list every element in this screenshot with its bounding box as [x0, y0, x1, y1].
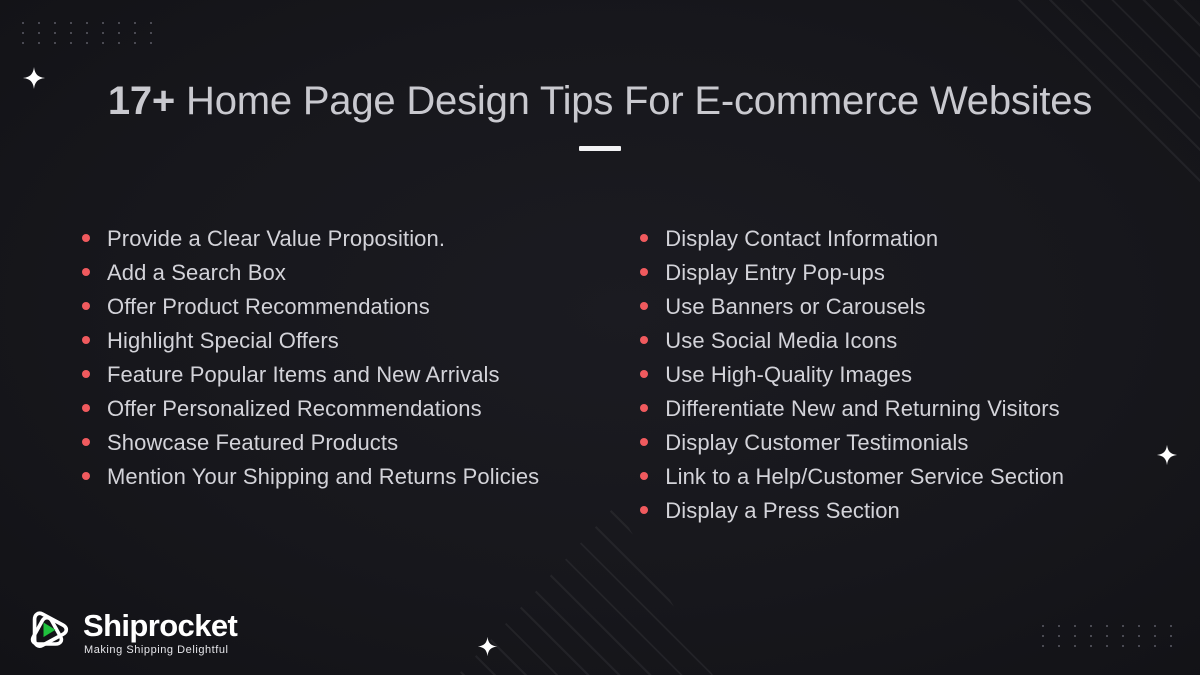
list-item: Use Banners or Carousels — [640, 296, 1160, 318]
slide-canvas: 17+ Home Page Design Tips For E-commerce… — [0, 0, 1200, 675]
list-item: Feature Popular Items and New Arrivals — [82, 364, 640, 386]
bullet-icon — [640, 336, 648, 344]
bullet-icon — [640, 268, 648, 276]
bullet-icon — [82, 268, 90, 276]
shiprocket-play-triangle-icon — [22, 604, 74, 661]
logo-wordmark: Shiprocket — [83, 610, 237, 641]
bullet-icon — [640, 302, 648, 310]
list-item: Display a Press Section — [640, 500, 1160, 522]
bullet-icon — [640, 404, 648, 412]
list-item: Add a Search Box — [82, 262, 640, 284]
tips-right-column: Display Contact Information Display Entr… — [640, 228, 1160, 534]
list-item: Display Contact Information — [640, 228, 1160, 250]
dot-grid-bottom-right-icon — [1042, 625, 1178, 647]
title-rest: Home Page Design Tips For E-commerce Web… — [175, 79, 1092, 123]
list-item: Link to a Help/Customer Service Section — [640, 466, 1160, 488]
bullet-icon — [640, 370, 648, 378]
bullet-icon — [82, 438, 90, 446]
list-item: Use High-Quality Images — [640, 364, 1160, 386]
list-item: Use Social Media Icons — [640, 330, 1160, 352]
page-title: 17+ Home Page Design Tips For E-commerce… — [0, 78, 1200, 124]
list-item: Offer Product Recommendations — [82, 296, 640, 318]
bullet-icon — [640, 234, 648, 242]
list-item: Offer Personalized Recommendations — [82, 398, 640, 420]
bullet-icon — [82, 234, 90, 242]
list-item: Display Entry Pop-ups — [640, 262, 1160, 284]
list-item: Provide a Clear Value Proposition. — [82, 228, 640, 250]
list-item: Differentiate New and Returning Visitors — [640, 398, 1160, 420]
bullet-icon — [82, 370, 90, 378]
bullet-icon — [82, 404, 90, 412]
tips-left-column: Provide a Clear Value Proposition. Add a… — [82, 228, 640, 534]
title-count: 17+ — [108, 79, 175, 123]
bullet-icon — [82, 472, 90, 480]
bullet-icon — [640, 472, 648, 480]
logo-tagline: Making Shipping Delightful — [84, 645, 237, 656]
bullet-icon — [640, 506, 648, 514]
list-item: Highlight Special Offers — [82, 330, 640, 352]
bullet-icon — [82, 336, 90, 344]
title-block: 17+ Home Page Design Tips For E-commerce… — [0, 78, 1200, 151]
list-item: Display Customer Testimonials — [640, 432, 1160, 454]
list-item: Mention Your Shipping and Returns Polici… — [82, 466, 640, 488]
list-item: Showcase Featured Products — [82, 432, 640, 454]
sparkle-icon — [477, 636, 498, 657]
dot-grid-top-left-icon — [22, 22, 158, 44]
shiprocket-logo: Shiprocket Making Shipping Delightful — [22, 604, 237, 661]
logo-text-block: Shiprocket Making Shipping Delightful — [83, 610, 237, 656]
bullet-icon — [82, 302, 90, 310]
bullet-icon — [640, 438, 648, 446]
tips-columns: Provide a Clear Value Proposition. Add a… — [0, 228, 1200, 534]
title-divider — [579, 146, 621, 151]
